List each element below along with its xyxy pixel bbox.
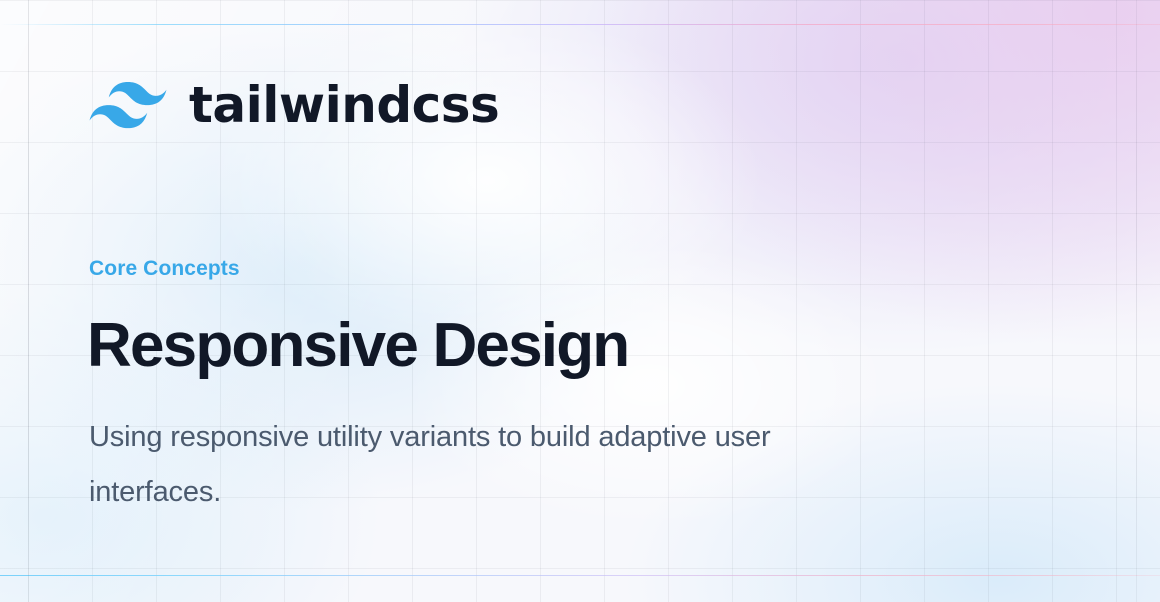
tailwind-wordmark: tailwindcss [189, 80, 499, 130]
category-eyebrow: Core Concepts [89, 255, 240, 283]
hero-content: tailwindcss Core Concepts Responsive Des… [0, 0, 1160, 602]
tailwind-brand-lockup: tailwindcss [89, 80, 499, 130]
hero-card: tailwindcss Core Concepts Responsive Des… [0, 0, 1160, 602]
page-title: Responsive Design [87, 308, 628, 384]
tailwind-wave-logo-icon [89, 82, 167, 129]
page-description: Using responsive utility variants to bui… [89, 410, 859, 520]
